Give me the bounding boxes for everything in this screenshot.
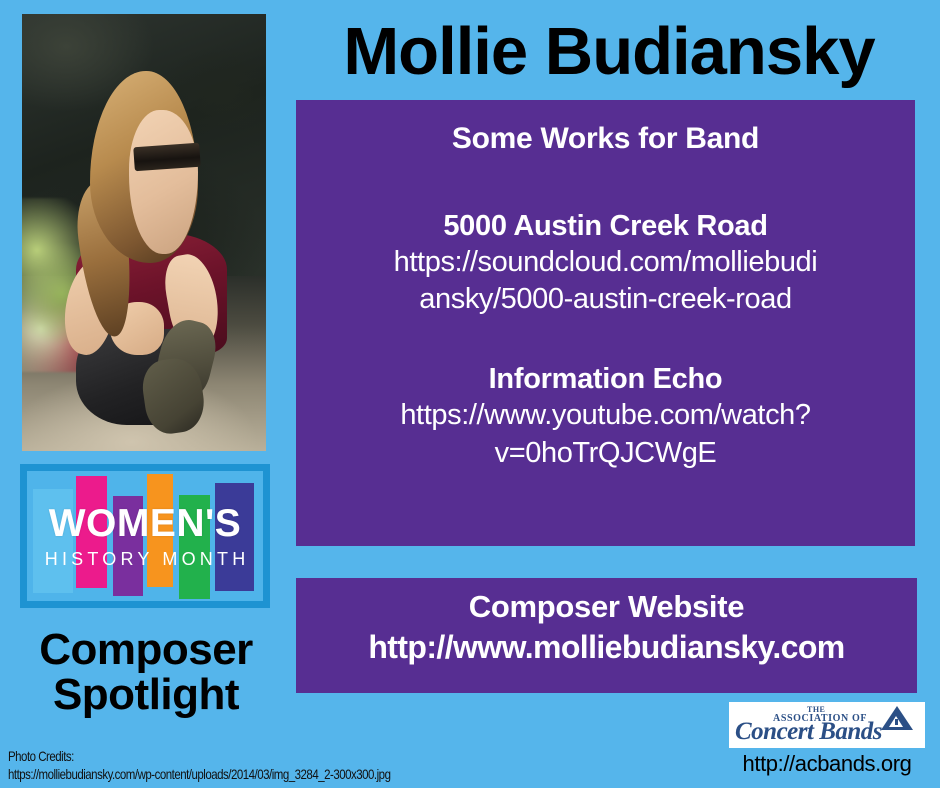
acb-name-label: Concert Bands: [735, 718, 882, 746]
photo-credits-label: Photo Credits:: [8, 748, 390, 766]
work-title-1: 5000 Austin Creek Road: [304, 208, 907, 244]
spotlight-line-2: Spotlight: [8, 673, 284, 718]
whm-bar-4: [147, 474, 173, 587]
acb-triangle-bar-icon: [895, 719, 898, 725]
composer-website-url[interactable]: http://www.molliebudiansky.com: [300, 627, 913, 667]
composer-spotlight-poster: Mollie Budiansky Some Works for Band 500…: [0, 0, 940, 788]
works-panel: Some Works for Band 5000 Austin Creek Ro…: [296, 100, 915, 546]
composer-website-panel: Composer Website http://www.molliebudian…: [296, 578, 917, 693]
acb-logo: THE ASSOCIATION OF Concert Bands http://…: [727, 702, 927, 777]
work-url-1-line-1[interactable]: https://soundcloud.com/molliebudi: [304, 244, 907, 282]
whm-bar-3: [113, 496, 143, 596]
work-title-2: Information Echo: [304, 361, 907, 397]
works-heading: Some Works for Band: [304, 120, 907, 158]
page-title: Mollie Budiansky: [286, 6, 932, 96]
photo-face: [129, 110, 197, 254]
spacer: [304, 158, 907, 208]
acb-website-url[interactable]: http://acbands.org: [727, 751, 927, 777]
whm-bar-1: [33, 489, 73, 593]
womens-history-month-logo: WOMEN'S HISTORY MONTH: [20, 464, 270, 608]
composer-website-heading: Composer Website: [300, 588, 913, 627]
whm-bar-2: [76, 476, 107, 588]
photo-credits-url[interactable]: https://molliebudiansky.com/wp-content/u…: [8, 766, 390, 784]
acb-logo-plate: THE ASSOCIATION OF Concert Bands: [729, 702, 925, 748]
whm-bar-6: [215, 483, 254, 591]
composer-photo: [22, 14, 266, 451]
composer-spotlight-label: Composer Spotlight: [8, 628, 284, 718]
whm-bar-5: [179, 495, 210, 599]
photo-credits: Photo Credits: https://molliebudiansky.c…: [8, 748, 390, 783]
work-url-1-line-2[interactable]: ansky/5000-austin-creek-road: [304, 281, 907, 319]
whm-logo-inner: WOMEN'S HISTORY MONTH: [27, 471, 263, 601]
work-url-2-line-2[interactable]: v=0hoTrQJCWgE: [304, 435, 907, 473]
whm-color-bars: [27, 471, 263, 601]
work-url-2-line-1[interactable]: https://www.youtube.com/watch?: [304, 397, 907, 435]
photo-glasses: [133, 143, 200, 172]
composer-photo-illustration: [22, 14, 266, 451]
spotlight-line-1: Composer: [8, 628, 284, 673]
spacer: [304, 319, 907, 361]
